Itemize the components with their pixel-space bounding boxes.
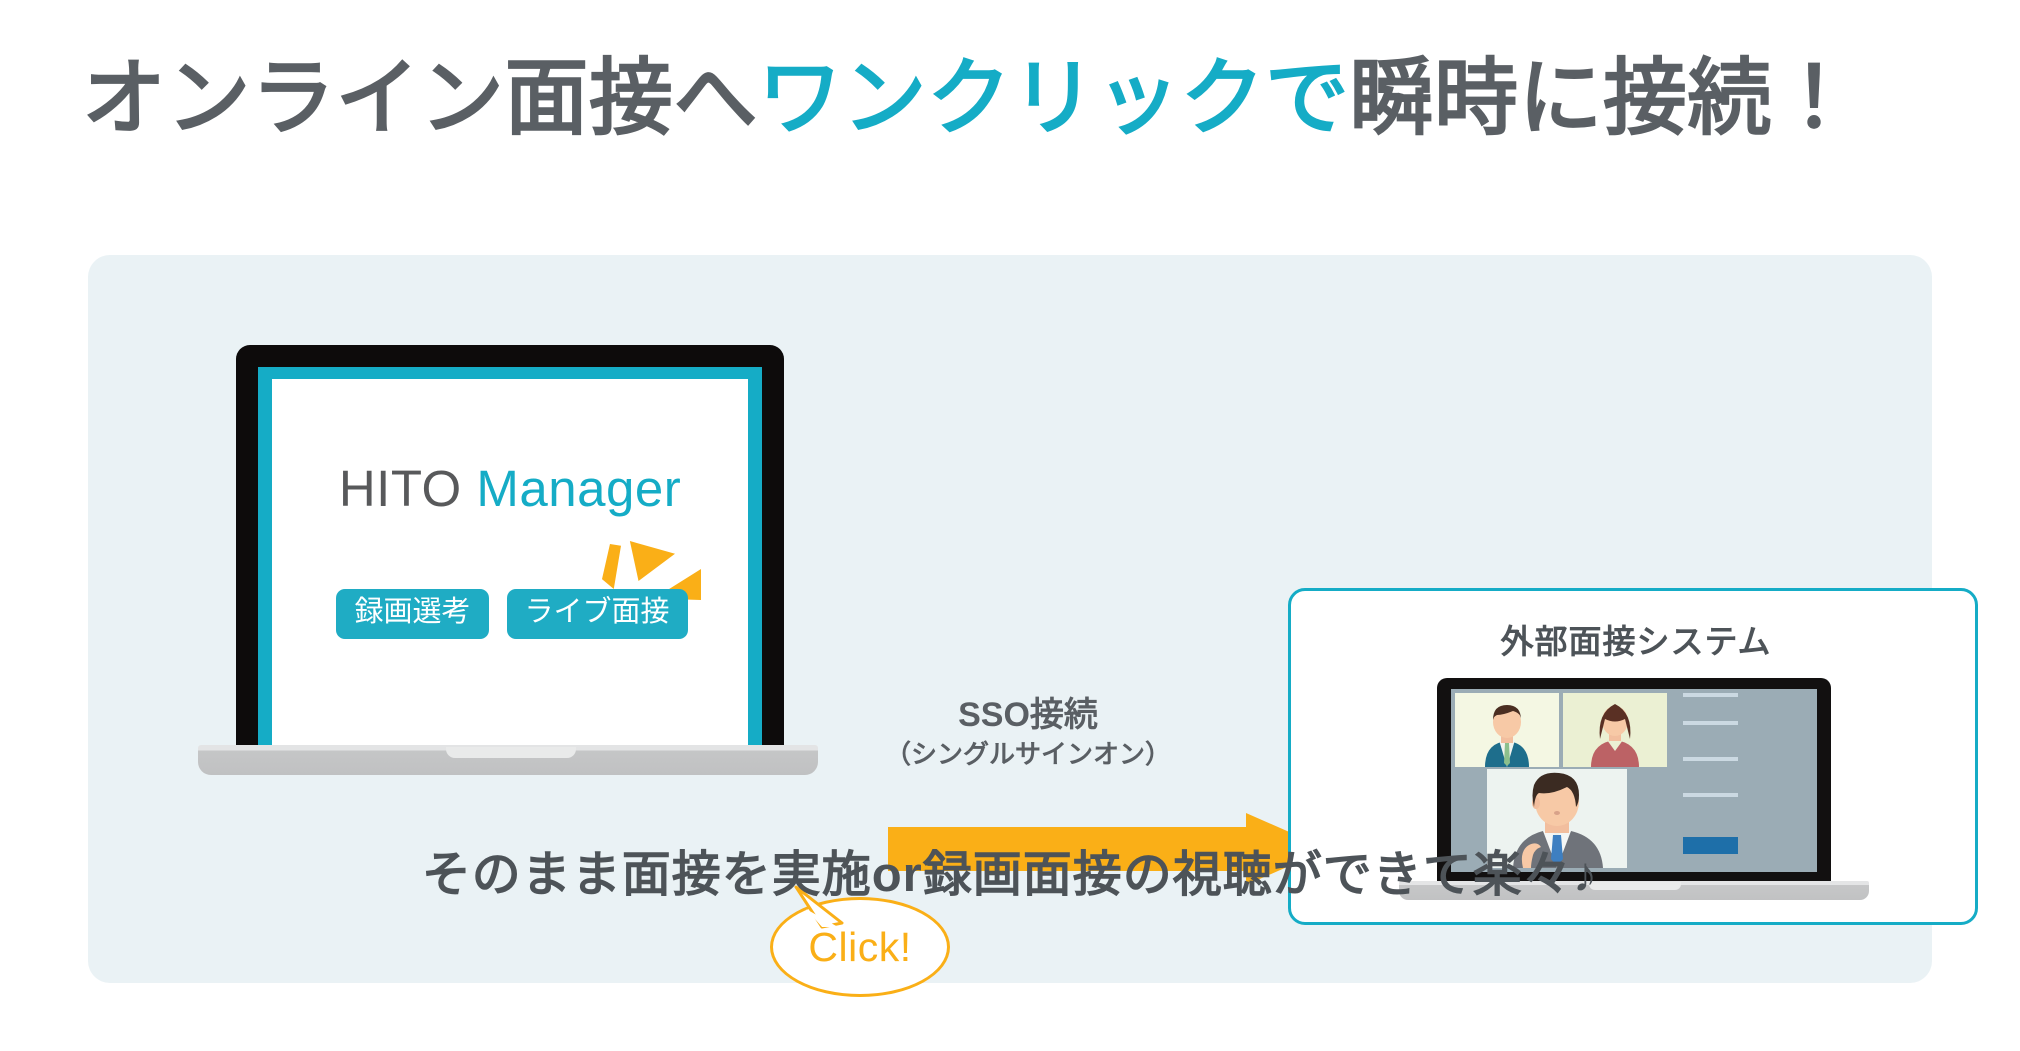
diagram-panel: HITO Manager 録画選考 ライブ面接 Click! SSO接続 — [88, 255, 1932, 983]
page-title-part-2: ワンクリックで — [758, 56, 1350, 140]
participant-tile-top-right — [1563, 693, 1667, 767]
sso-label-main: SSO接続 — [848, 695, 1208, 736]
page-title: オンライン面接へワンクリックで瞬時に接続！ — [82, 40, 1942, 155]
page-title-part-1: オンライン面接へ — [82, 56, 758, 140]
hito-manager-laptop: HITO Manager 録画選考 ライブ面接 — [198, 345, 818, 790]
laptop-screen: HITO Manager 録画選考 ライブ面接 — [272, 379, 748, 748]
sidebar-line-1 — [1683, 721, 1738, 725]
screen-action-buttons: 録画選考 ライブ面接 — [302, 589, 722, 639]
sso-connection-label: SSO接続 （シングルサインオン） — [848, 695, 1208, 771]
participant-tile-top-left — [1455, 693, 1559, 767]
participant-avatar-male-1 — [1455, 693, 1559, 767]
callout-label: Click! — [770, 897, 950, 997]
recorded-screening-button[interactable]: 録画選考 — [336, 589, 488, 639]
spark-ray-2 — [627, 541, 675, 581]
logo-primary-text: HITO — [339, 460, 462, 517]
live-interview-button[interactable]: ライブ面接 — [507, 589, 688, 639]
spark-ray-1 — [602, 544, 621, 589]
sidebar-line-3 — [1683, 793, 1738, 797]
logo-secondary-text: Manager — [476, 460, 681, 517]
sidebar-line-2 — [1683, 757, 1738, 761]
page-title-part-3: 瞬時に接続！ — [1350, 56, 1857, 140]
footer-caption: そのまま面接を実施or録画面接の視聴ができて楽々♪ — [88, 835, 1932, 906]
sso-label-sub: （シングルサインオン） — [848, 738, 1208, 771]
participant-avatar-female-1 — [1563, 693, 1667, 767]
external-system-title: 外部面接システム — [1291, 615, 1981, 663]
hito-manager-logo: HITO Manager — [272, 459, 748, 518]
laptop-base-notch — [446, 747, 576, 758]
sidebar-line-4 — [1683, 693, 1738, 697]
